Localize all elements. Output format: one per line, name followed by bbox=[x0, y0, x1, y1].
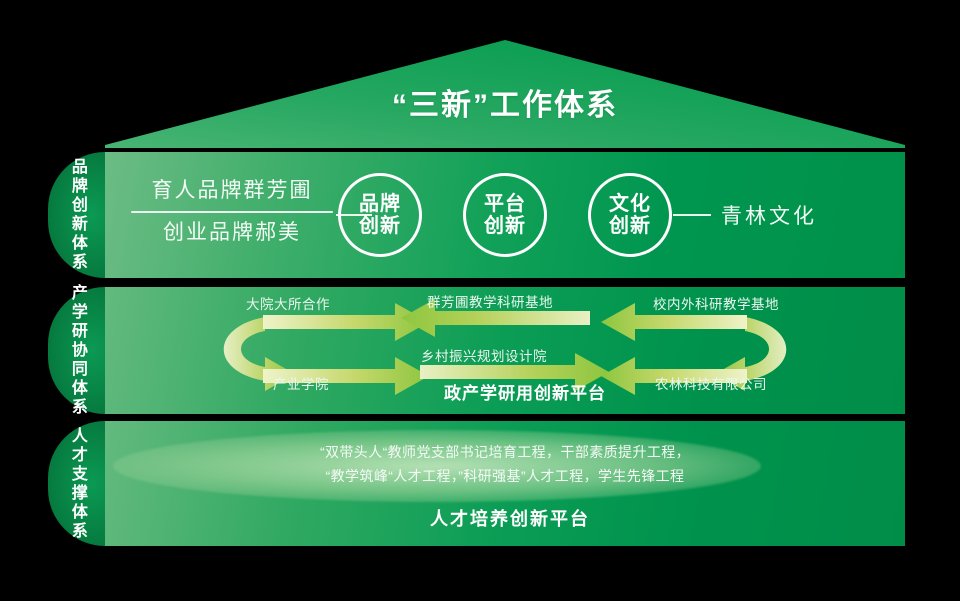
talent-line-2: “教学筑峰“人才工程，”科研强基”人才工程，学生先锋工程 bbox=[205, 465, 805, 489]
sidebar-item-brand-innovation-system[interactable]: 品牌创新体系 bbox=[48, 152, 105, 278]
circle-line-1: 平台 bbox=[484, 193, 526, 215]
band-brand-innovation: 育人品牌群芳圃 创业品牌郝美 品牌 创新 平台 创新 文化 创新 青林文化 bbox=[105, 152, 905, 278]
circle-brand-innovation[interactable]: 品牌 创新 bbox=[338, 173, 422, 257]
sidebar-item-label: 品牌创新体系 bbox=[68, 158, 85, 272]
sidebar-item-label: 人才支撑体系 bbox=[68, 427, 85, 541]
circle-culture-innovation[interactable]: 文化 创新 bbox=[588, 173, 672, 257]
label-qunfangpu-teaching-research-base: 群芳圃教学科研基地 bbox=[427, 291, 553, 311]
circle-line-1: 文化 bbox=[609, 193, 651, 215]
label-rural-revitalization-institute: 乡村振兴规划设计院 bbox=[421, 345, 547, 365]
page-title: “三新”工作体系 bbox=[105, 80, 905, 124]
roof-shape: “三新”工作体系 创新品牌|创新文化|创新平台 bbox=[105, 40, 905, 148]
band-talent-support: “双带头人“教师党支部书记培育工程，干部素质提升工程， “教学筑峰“人才工程，”… bbox=[105, 421, 905, 546]
diagram-canvas: “三新”工作体系 创新品牌|创新文化|创新平台 品牌创新体系 产学研协同体系 人… bbox=[0, 0, 960, 601]
band2-title: 政产学研用创新平台 bbox=[395, 379, 655, 404]
circle-line-1: 品牌 bbox=[359, 193, 401, 215]
circle-platform-innovation[interactable]: 平台 创新 bbox=[463, 173, 547, 257]
brand-divider bbox=[131, 211, 333, 213]
talent-text-group: “双带头人“教师党支部书记培育工程，干部素质提升工程， “教学筑峰“人才工程，”… bbox=[205, 441, 805, 489]
connector-line-right bbox=[673, 214, 711, 216]
brand-line-1: 育人品牌群芳圃 bbox=[127, 176, 337, 206]
talent-line-1: “双带头人“教师党支部书记培育工程，干部素质提升工程， bbox=[205, 441, 805, 465]
brand-text-group: 育人品牌群芳圃 创业品牌郝美 bbox=[127, 176, 337, 249]
label-major-institute-cooperation: 大院大所合作 bbox=[246, 293, 330, 313]
brand-line-2: 创业品牌郝美 bbox=[127, 218, 337, 248]
label-industry-college: 产业学院 bbox=[273, 373, 329, 393]
circle-line-2: 创新 bbox=[359, 215, 401, 237]
sidebar-item-label: 产学研协同体系 bbox=[68, 284, 85, 417]
circle-line-2: 创新 bbox=[484, 215, 526, 237]
label-agroforestry-tech-company: 农林科技有限公司 bbox=[655, 373, 767, 393]
sidebar-item-talent-support-system[interactable]: 人才支撑体系 bbox=[48, 421, 105, 546]
circle-line-2: 创新 bbox=[609, 215, 651, 237]
band-industry-academia-research: 大院大所合作 产业学院 群芳圃教学科研基地 乡村振兴规划设计院 校内外科研教学基… bbox=[105, 287, 905, 414]
band3-title: 人才培养创新平台 bbox=[300, 505, 720, 531]
label-campus-research-teaching-base: 校内外科研教学基地 bbox=[653, 293, 779, 313]
culture-brand-label: 青林文化 bbox=[721, 200, 817, 230]
sidebar-item-industry-academia-research-system[interactable]: 产学研协同体系 bbox=[48, 287, 105, 414]
